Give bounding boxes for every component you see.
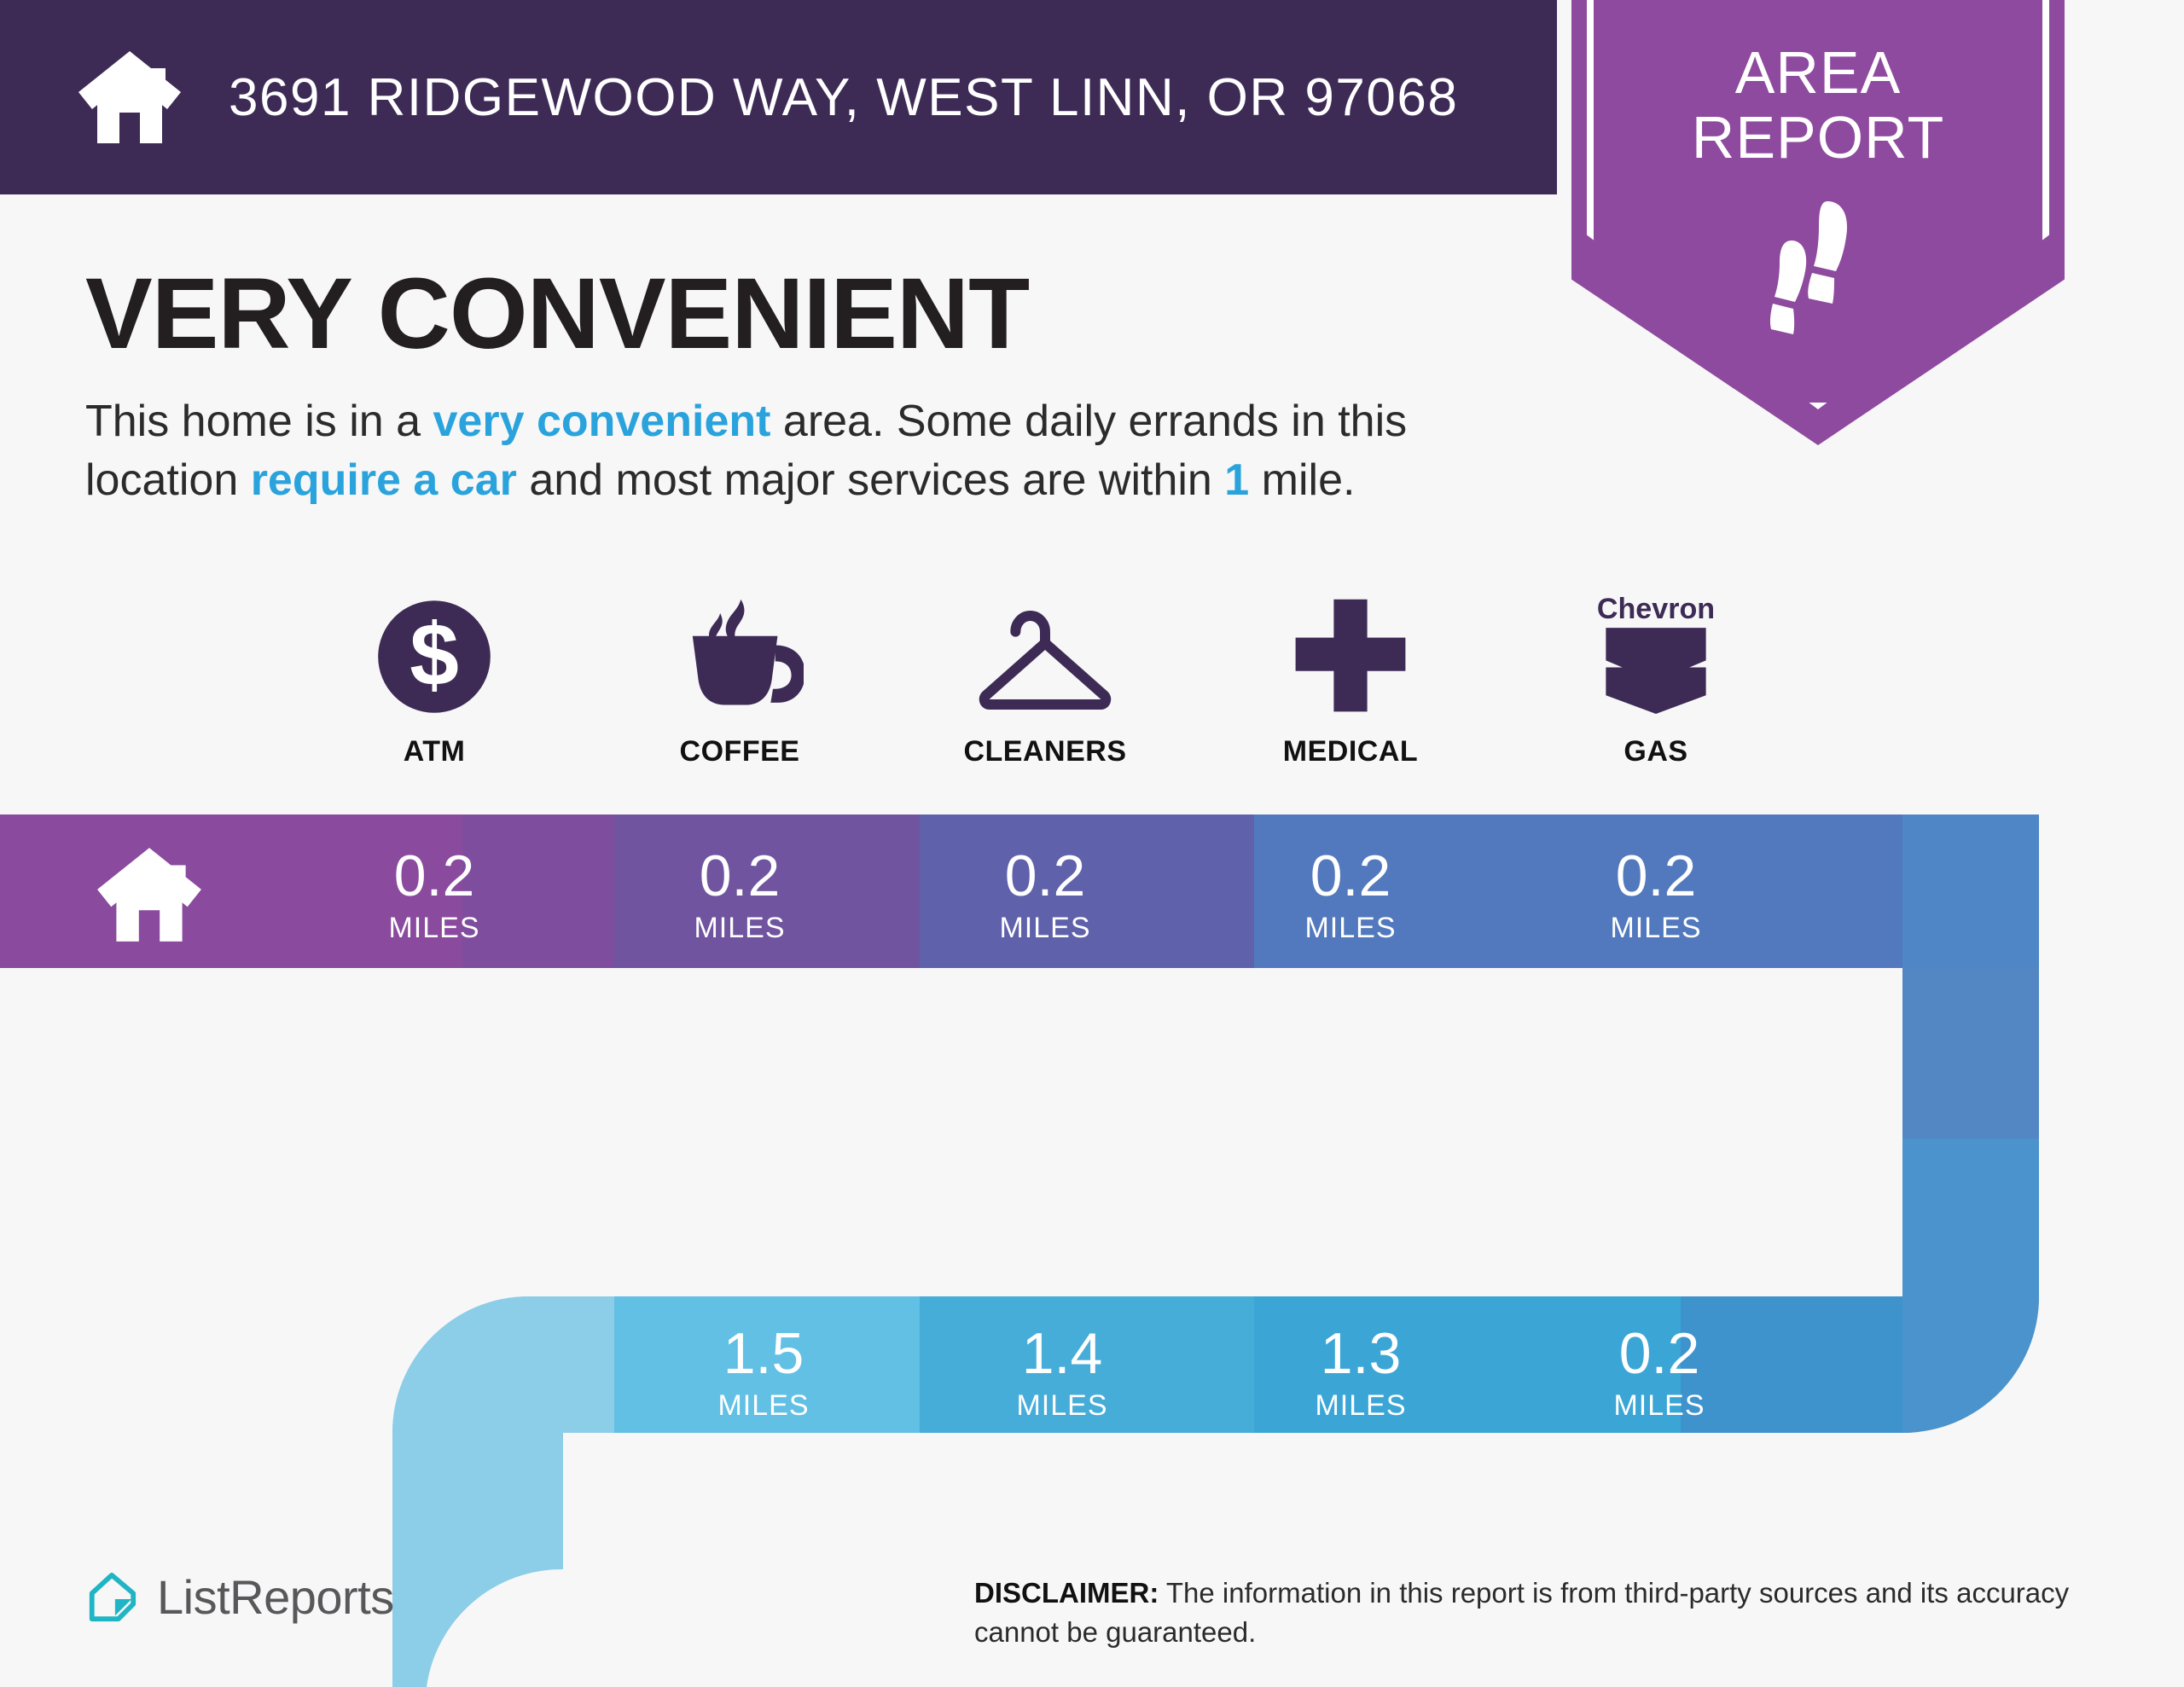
badge-title: AREA REPORT (1571, 41, 2065, 170)
distance-unit: MILES (999, 912, 1090, 945)
listreports-wordmark: ListReports (157, 1569, 394, 1625)
summary-text: This home is in a very convenient area. … (85, 392, 1553, 509)
distance-unit: MILES (717, 1389, 809, 1423)
amenity-label: CLEANERS (963, 735, 1126, 768)
summary-highlight-1: very convenient (433, 397, 771, 446)
header-bar: 3691 RIDGEWOOD WAY, WEST LINN, OR 97068 (0, 0, 1557, 194)
home-marker (94, 844, 205, 949)
distance-cell-pharmacy: 1.3 MILES (1211, 1296, 1510, 1450)
distance-cell-coffee: 0.2 MILES (587, 819, 892, 972)
distance-unit: MILES (1304, 912, 1396, 945)
amenity-medical[interactable]: MEDICAL (1198, 588, 1503, 768)
amenity-icons-row-2: GROCERIES MOVIE THEATER PHARMACY (614, 1070, 1809, 1250)
disclaimer-label: DISCLAIMER: (974, 1577, 1159, 1609)
distance-value: 0.2 (700, 847, 781, 905)
summary-part-3: and most major services are within (517, 455, 1224, 505)
distance-value: 0.2 (1005, 847, 1086, 905)
distance-value: 1.5 (723, 1325, 804, 1383)
svg-text:$: $ (409, 606, 459, 704)
amenity-label: ATM (404, 735, 466, 768)
amenity-label: PHARMACY (1275, 1217, 1446, 1250)
summary-part-1: This home is in a (85, 397, 433, 446)
coat-hanger-icon (977, 588, 1113, 716)
listreports-house-icon (85, 1571, 138, 1624)
summary-highlight-3: 1 (1224, 455, 1249, 505)
distance-unit: MILES (1613, 1389, 1705, 1423)
chevron-logo-icon: Chevron (1592, 588, 1720, 716)
amenity-gas[interactable]: Chevron GAS (1503, 588, 1809, 768)
amenity-groceries[interactable]: GROCERIES (614, 1070, 913, 1250)
distance-unit: MILES (1315, 1389, 1406, 1423)
amenity-cleaners[interactable]: CLEANERS (892, 588, 1198, 768)
distance-cell-groceries: 1.5 MILES (614, 1296, 913, 1450)
distance-value: 0.2 (1310, 847, 1391, 905)
page-title: VERY CONVENIENT (85, 256, 1029, 372)
dollar-circle-icon: $ (375, 588, 494, 716)
distance-value: 0.2 (1619, 1325, 1700, 1383)
distance-value: 1.4 (1022, 1325, 1103, 1383)
amenity-pharmacy[interactable]: PHARMACY (1211, 1070, 1510, 1250)
amenity-atm[interactable]: $ ATM (282, 588, 587, 768)
house-icon (75, 48, 184, 147)
distance-values-row-1: 0.2 MILES 0.2 MILES 0.2 MILES 0.2 MILES … (282, 819, 1809, 972)
amenity-coffee[interactable]: COFFEE (587, 588, 892, 768)
distance-cell-atm: 0.2 MILES (282, 819, 587, 972)
svg-text:Chevron: Chevron (1597, 593, 1715, 625)
grocery-basket-icon (695, 1070, 832, 1198)
listreports-logo[interactable]: ListReports (85, 1569, 394, 1625)
footprints-icon (1754, 200, 1882, 336)
movie-ticket-icon (998, 1070, 1126, 1198)
rx-icon (1299, 1070, 1423, 1198)
distance-cell-medical: 0.2 MILES (1198, 819, 1503, 972)
distance-values-row-2: 1.5 MILES 1.4 MILES 1.3 MILES 0.2 MILES (614, 1296, 1809, 1450)
amenity-gym[interactable]: GYM (1510, 1070, 1809, 1250)
disclaimer: DISCLAIMER: The information in this repo… (974, 1574, 2109, 1651)
distance-unit: MILES (388, 912, 479, 945)
distance-cell-cleaners: 0.2 MILES (892, 819, 1198, 972)
distance-cell-movie-theater: 1.4 MILES (913, 1296, 1211, 1450)
property-address: 3691 RIDGEWOOD WAY, WEST LINN, OR 97068 (229, 67, 1458, 128)
coffee-cup-icon (676, 588, 804, 716)
amenity-label: GROCERIES (675, 1217, 853, 1250)
distance-unit: MILES (694, 912, 785, 945)
summary-highlight-2: require a car (251, 455, 517, 505)
amenity-icons-row-1: $ ATM COFFEE (282, 588, 1809, 768)
amenity-label: GYM (1626, 1217, 1693, 1250)
distance-value: 1.3 (1321, 1325, 1402, 1383)
amenity-label: MEDICAL (1283, 735, 1418, 768)
distance-value: 0.2 (394, 847, 475, 905)
distance-cell-gym: 0.2 MILES (1510, 1296, 1809, 1450)
distance-unit: MILES (1016, 1389, 1107, 1423)
summary-part-4: mile. (1249, 455, 1355, 505)
distance-unit: MILES (1610, 912, 1701, 945)
amenity-movie-theater[interactable]: MOVIE THEATER (913, 1070, 1211, 1250)
badge-line-1: AREA (1571, 41, 2065, 106)
dumbbell-icon (1591, 1070, 1728, 1198)
distance-cell-gas: 0.2 MILES (1503, 819, 1809, 972)
distance-value: 0.2 (1616, 847, 1697, 905)
badge-line-2: REPORT (1571, 106, 2065, 171)
amenity-label: COFFEE (680, 735, 800, 768)
area-report-badge: AREA REPORT (1571, 0, 2065, 445)
house-icon (94, 844, 205, 945)
medical-cross-icon (1291, 588, 1410, 716)
amenity-label: MOVIE THEATER (941, 1217, 1183, 1250)
amenity-label: GAS (1623, 735, 1687, 768)
